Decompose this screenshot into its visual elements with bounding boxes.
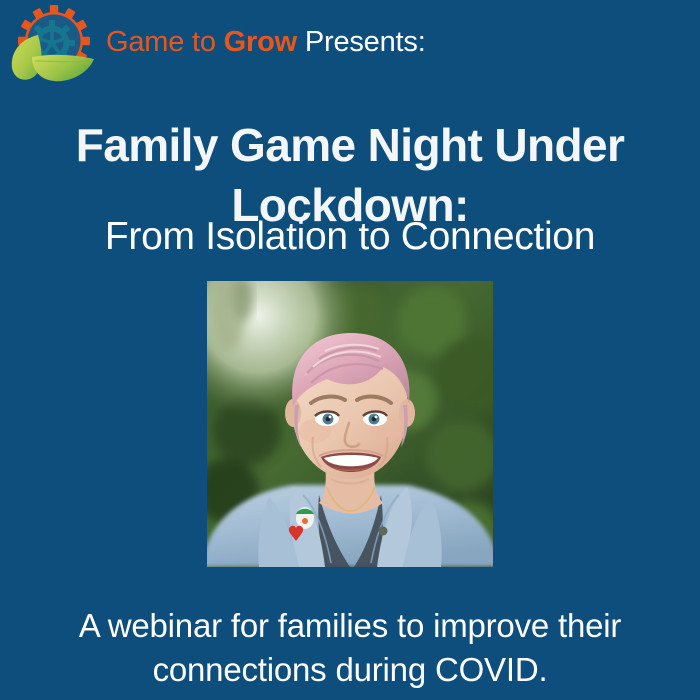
- page-subtitle: From Isolation to Connection: [0, 212, 700, 262]
- brand-header: Game to Grow Presents:: [8, 4, 692, 84]
- footer-description-line-2: connections during COVID.: [0, 648, 700, 692]
- webinar-promo-poster: Game to Grow Presents: Family Game Night…: [0, 0, 700, 700]
- brand-name: Game to Grow Presents:: [106, 28, 426, 61]
- brand-name-grow: Grow: [224, 26, 297, 58]
- page-title-line-1: Family Game Night Under: [0, 115, 700, 175]
- footer-description-line-1: A webinar for families to improve their: [0, 604, 700, 648]
- footer-description: A webinar for families to improve their …: [0, 604, 700, 692]
- presenter-portrait-photo: [207, 281, 493, 567]
- gear-leaf-logo-icon: [8, 5, 100, 83]
- brand-name-game-to: Game to: [106, 26, 224, 58]
- brand-presents-label: Presents:: [297, 26, 426, 58]
